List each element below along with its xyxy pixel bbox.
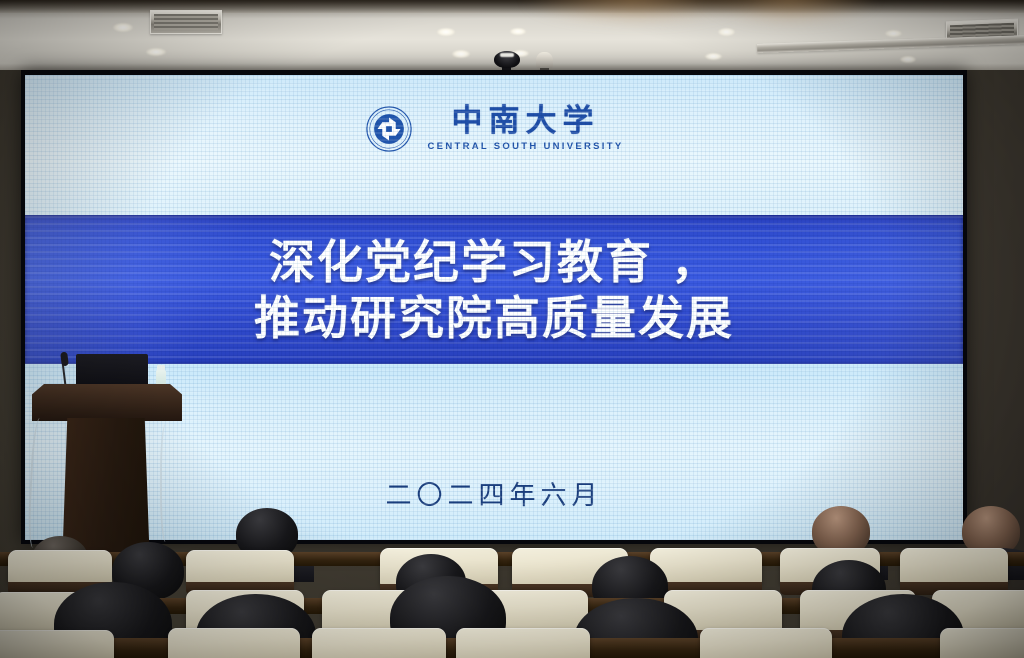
seat-back (456, 628, 590, 658)
slide-title-line-1: 深化党纪学习教育 ， (269, 236, 719, 288)
recessed-spotlight (146, 48, 166, 56)
seat-back (312, 628, 446, 658)
ceiling-dome-camera (494, 51, 520, 68)
seat-back (186, 550, 294, 586)
seat-back (900, 548, 1008, 586)
seat-back (700, 628, 832, 658)
university-name-cn: 中南大学 (451, 106, 599, 137)
recessed-spotlight (113, 23, 133, 32)
recessed-spotlight (510, 28, 526, 35)
ceiling-vent-grille-left (150, 10, 222, 34)
seat-back (168, 628, 300, 658)
recessed-spotlight (705, 53, 722, 60)
linear-air-vent (757, 35, 1024, 53)
camera-highlight (500, 53, 514, 57)
lectern-top (32, 384, 182, 421)
slide-title-line-2: 推动研究院高质量发展 (254, 292, 734, 344)
ceiling-warm-glow (700, 0, 880, 26)
seat-back (8, 550, 112, 586)
ceiling (0, 0, 1024, 72)
auditorium-photo: · 中南大学 CENTRAL SOUTH UNIVERSITY 深化党纪学习教育… (0, 0, 1024, 658)
central-south-university-emblem: · (365, 105, 413, 153)
svg-text:·: · (388, 108, 389, 112)
recessed-spotlight (437, 28, 455, 36)
university-branding: · 中南大学 CENTRAL SOUTH UNIVERSITY (25, 105, 963, 153)
seat-back (0, 630, 114, 658)
university-name-block: 中南大学 CENTRAL SOUTH UNIVERSITY (428, 106, 624, 152)
seated-audience (0, 498, 1024, 658)
recessed-spotlight (452, 50, 470, 58)
university-name-en: CENTRAL SOUTH UNIVERSITY (428, 142, 624, 152)
slide-title: 深化党纪学习教育 ， 推动研究院高质量发展 (25, 215, 963, 365)
recessed-spotlight (718, 28, 735, 36)
recessed-spotlight (885, 30, 902, 37)
gooseneck-microphone-head (60, 352, 69, 367)
seat-back (940, 628, 1024, 658)
recessed-spotlight (900, 56, 916, 63)
